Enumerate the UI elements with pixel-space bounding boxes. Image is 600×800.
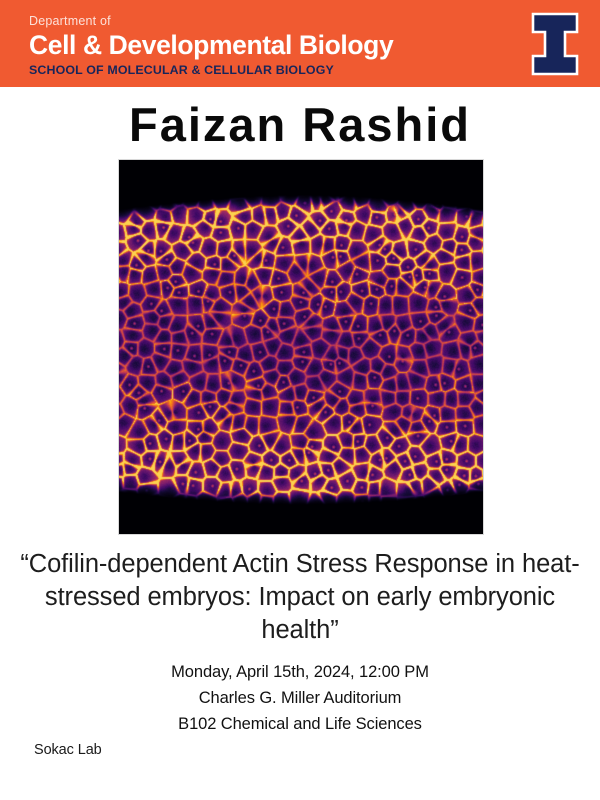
department-eyebrow-label: Department of bbox=[29, 13, 459, 29]
department-header-band: Department of Cell & Developmental Biolo… bbox=[0, 0, 600, 87]
embryo-micrograph-canvas bbox=[119, 160, 483, 534]
talk-title-heading: “Cofilin-dependent Actin Stress Response… bbox=[10, 548, 590, 647]
event-venue-line: Charles G. Miller Auditorium bbox=[0, 685, 600, 711]
event-details-block: Monday, April 15th, 2024, 12:00 PM Charl… bbox=[0, 659, 600, 737]
lab-credit-label: Sokac Lab bbox=[34, 741, 102, 760]
event-datetime-line: Monday, April 15th, 2024, 12:00 PM bbox=[0, 659, 600, 685]
school-subtitle-label: SCHOOL OF MOLECULAR & CELLULAR BIOLOGY bbox=[29, 63, 459, 78]
speaker-name-heading: Faizan Rashid bbox=[0, 97, 600, 153]
microscopy-figure bbox=[119, 160, 483, 534]
illinois-block-i-logo bbox=[527, 12, 583, 76]
department-name-title: Cell & Developmental Biology bbox=[29, 30, 459, 61]
event-building-line: B102 Chemical and Life Sciences bbox=[0, 711, 600, 737]
department-identity-block: Department of Cell & Developmental Biolo… bbox=[29, 13, 459, 78]
